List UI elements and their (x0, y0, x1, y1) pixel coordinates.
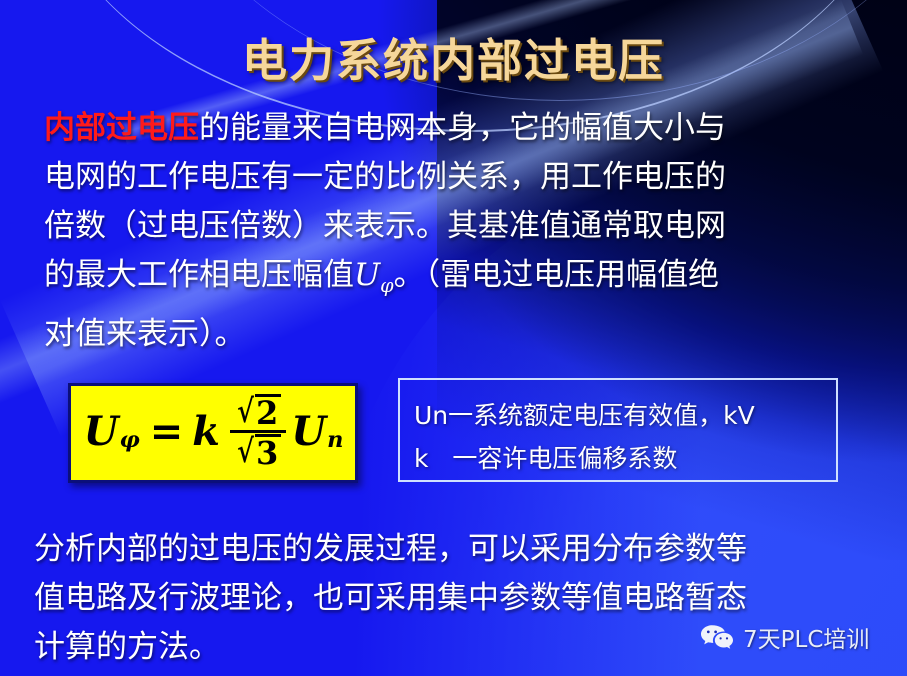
formula-box: Uφ = k √2 √3 Un (68, 383, 358, 483)
legend-box: Un一系统额定电压有效值，kV k 一容许电压偏移系数 (398, 378, 838, 482)
formula-denominator-radical: √3 (235, 434, 281, 469)
formula-numerator-value: 2 (255, 394, 281, 429)
paragraph-top-text-5: 。（雷电过电压用幅值绝 (394, 257, 720, 293)
paragraph-top: 内部过电压的能量来自电网本身，它的幅值大小与 电网的工作电压有一定的比例关系，用… (44, 104, 726, 359)
symbol-u: U (354, 257, 380, 293)
formula-coefficient: k (192, 408, 220, 455)
highlight-term: 内部过电压 (44, 110, 199, 146)
paragraph-top-text-4: 的最大工作相电压幅值 (44, 257, 354, 293)
paragraph-bottom-line-2: 值电路及行波理论，也可采用集中参数等值电路暂态 (34, 574, 747, 623)
formula-lhs-subscript: φ (119, 427, 139, 453)
formula-denominator-value: 3 (255, 434, 281, 469)
formula-denominator: √3 (230, 433, 286, 469)
slide-canvas: 电力系统内部过电压 内部过电压的能量来自电网本身，它的幅值大小与 电网的工作电压… (0, 0, 907, 676)
paragraph-bottom-line-1: 分析内部的过电压的发展过程，可以采用分布参数等 (34, 525, 747, 574)
paragraph-top-line-1: 内部过电压的能量来自电网本身，它的幅值大小与 (44, 104, 726, 153)
watermark: 7天PLC培训 (700, 620, 869, 654)
slide-title: 电力系统内部过电压 (0, 24, 907, 89)
symbol-u-phi: Uφ (354, 257, 394, 293)
paragraph-top-text-1: 的能量来自电网本身，它的幅值大小与 (199, 110, 726, 146)
symbol-u-subscript: φ (380, 274, 393, 297)
formula-numerator: √2 (230, 394, 286, 433)
watermark-text: 7天PLC培训 (743, 620, 869, 654)
formula-equals: = (150, 408, 184, 455)
formula-numerator-radical: √2 (235, 394, 281, 429)
paragraph-bottom: 分析内部的过电压的发展过程，可以采用分布参数等 值电路及行波理论，也可采用集中参… (34, 525, 747, 672)
formula-lhs: U (84, 408, 119, 455)
paragraph-top-line-4: 的最大工作相电压幅值Uφ。（雷电过电压用幅值绝 (44, 251, 726, 310)
formula-expression: Uφ = k √2 √3 Un (84, 394, 343, 469)
radical-sign-numerator: √ (237, 395, 254, 428)
paragraph-top-line-2: 电网的工作电压有一定的比例关系，用工作电压的 (44, 153, 726, 202)
formula-rhs: U (291, 408, 326, 455)
legend-line-un: Un一系统额定电压有效值，kV (414, 394, 836, 437)
paragraph-top-line-5: 对值来表示）。 (44, 310, 726, 359)
radical-sign-denominator: √ (237, 435, 254, 468)
paragraph-bottom-line-3: 计算的方法。 (34, 623, 747, 672)
paragraph-top-line-3: 倍数（过电压倍数）来表示。其基准值通常取电网 (44, 202, 726, 251)
formula-rhs-subscript: n (327, 427, 343, 453)
legend-line-k: k 一容许电压偏移系数 (414, 437, 836, 480)
wechat-icon (700, 624, 734, 650)
formula-fraction: √2 √3 (230, 394, 286, 469)
